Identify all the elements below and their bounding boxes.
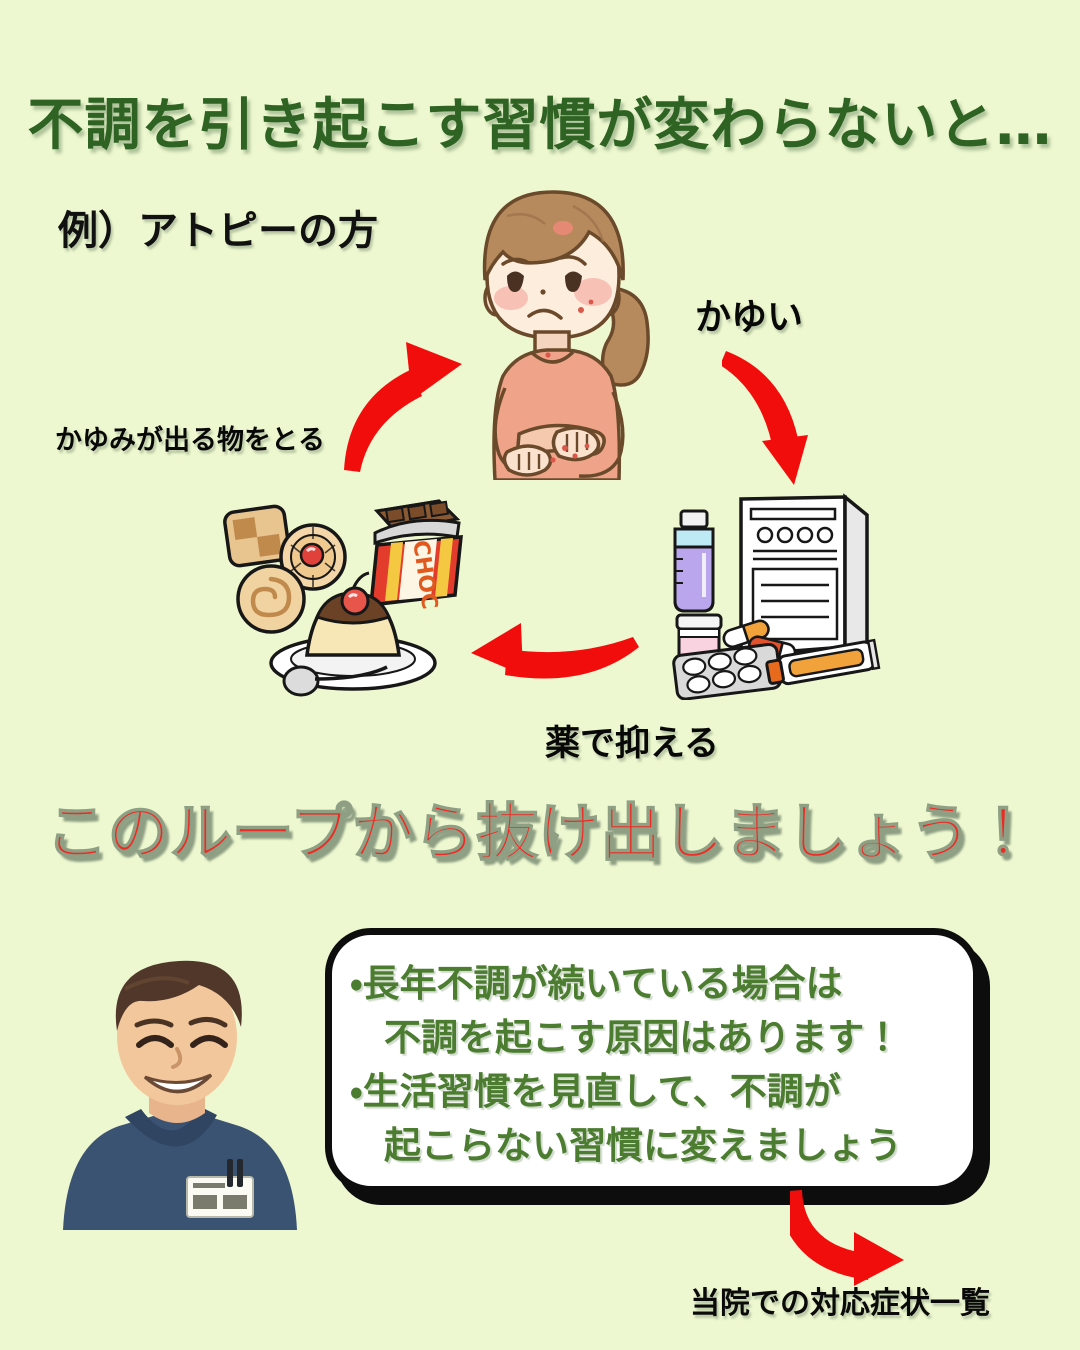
label-suppress-with-medicine: 薬で抑える <box>545 715 719 766</box>
label-remove-trigger: かゆみが出る物をとる <box>55 418 325 457</box>
person-with-atopy-illustration <box>445 180 685 480</box>
footer-cta-label[interactable]: 当院での対応症状一覧 <box>690 1278 990 1322</box>
arrow-itchy-to-medicine <box>722 335 872 485</box>
bubble-line-4: 起こらない習慣に変えましょう <box>350 1119 953 1173</box>
sweets-illustration: CHOC <box>205 495 495 705</box>
poster-canvas: 不調を引き起こす習慣が変わらないと… 例）アトピーの方 <box>0 0 1080 1350</box>
bubble-line-1: ・長年不調が続いている場合は <box>350 957 953 1011</box>
example-label: 例）アトピーの方 <box>58 198 378 256</box>
shout-headline: このループから抜け出しましょう！ <box>0 782 1080 872</box>
medicine-illustration <box>655 485 895 700</box>
staff-photo <box>45 945 320 1230</box>
label-itchy: かゆい <box>695 288 803 340</box>
footer-arrow <box>790 1190 950 1290</box>
advice-bubble: ・長年不調が続いている場合は 不調を起こす原因はあります！ ・生活習慣を見直して… <box>325 928 980 1193</box>
page-title: 不調を引き起こす習慣が変わらないと… <box>0 80 1080 161</box>
bubble-line-2: 不調を起こす原因はあります！ <box>350 1011 953 1065</box>
bubble-line-3: ・生活習慣を見直して、不調が <box>350 1065 953 1119</box>
